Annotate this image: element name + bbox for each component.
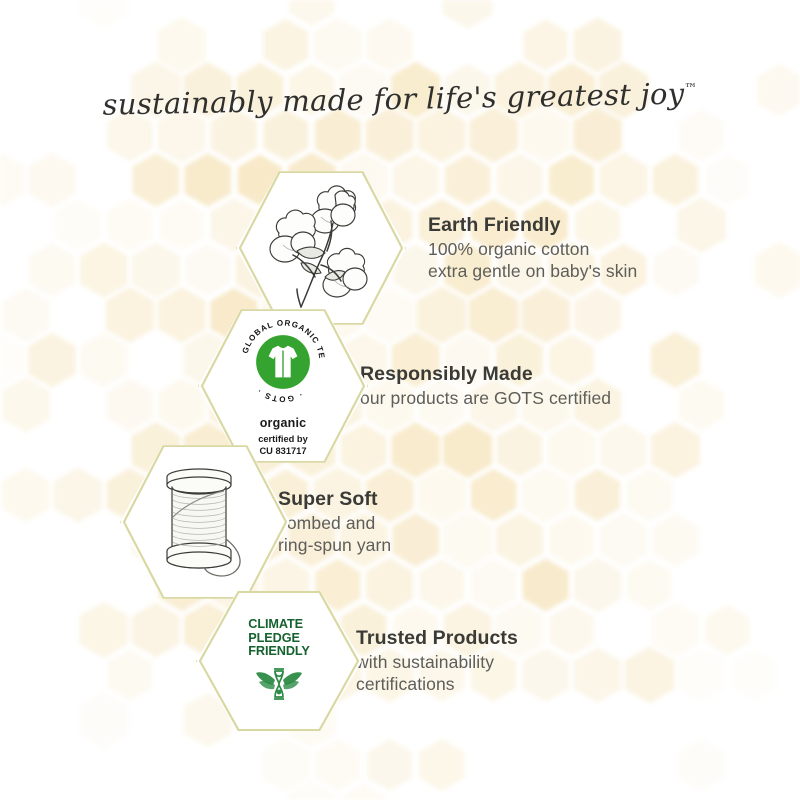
feature-line: our products are GOTS certified: [360, 387, 611, 410]
feature-row-trusted-products: CLIMATE PLEDGE FRIENDLY: [196, 588, 518, 734]
cotton-branch-icon: [257, 181, 385, 315]
hex-card-spool: [120, 442, 290, 602]
feature-text-super-soft: Super Soft combed and ring-spun yarn: [278, 487, 391, 557]
feature-text-trusted-products: Trusted Products with sustainability cer…: [356, 626, 518, 696]
feature-title: Earth Friendly: [428, 213, 637, 238]
feature-line: combed and: [278, 512, 391, 535]
hex-card-climate-pledge: CLIMATE PLEDGE FRIENDLY: [196, 588, 362, 734]
feature-title: Trusted Products: [356, 626, 518, 651]
cpf-line-2: PLEDGE: [248, 632, 309, 645]
feature-line: ring-spun yarn: [278, 534, 391, 557]
feature-title: Super Soft: [278, 487, 391, 512]
headline-text: sustainably made for life's greatest joy: [102, 77, 684, 122]
feature-row-earth-friendly: Earth Friendly 100% organic cotton extra…: [236, 168, 637, 328]
gots-certification-icon: GLOBAL ORGANIC TEXTILE STANDARD · GOTS ·…: [235, 314, 331, 458]
hex-card-cotton: [236, 168, 406, 328]
infographic-canvas: sustainably made for life's greatest joy…: [0, 0, 800, 800]
winged-hourglass-icon: [256, 664, 302, 704]
feature-title: Responsibly Made: [360, 362, 611, 387]
cpf-line-3: FRIENDLY: [248, 645, 309, 658]
feature-line: 100% organic cotton: [428, 238, 637, 261]
climate-pledge-wordmark: CLIMATE PLEDGE FRIENDLY: [248, 618, 309, 658]
feature-line: certifications: [356, 673, 518, 696]
feature-text-responsibly-made: Responsibly Made our products are GOTS c…: [360, 362, 611, 410]
gots-organic-label: organic: [260, 416, 307, 430]
climate-pledge-friendly-icon: CLIMATE PLEDGE FRIENDLY: [248, 618, 309, 703]
feature-line: extra gentle on baby's skin: [428, 260, 637, 283]
feature-line: with sustainability: [356, 651, 518, 674]
cpf-line-1: CLIMATE: [248, 618, 309, 631]
page-headline: sustainably made for life's greatest joy…: [0, 74, 800, 123]
feature-row-super-soft: Super Soft combed and ring-spun yarn: [120, 442, 391, 602]
feature-text-earth-friendly: Earth Friendly 100% organic cotton extra…: [428, 213, 637, 283]
trademark-symbol: ™: [684, 82, 697, 97]
thread-spool-icon: [149, 461, 261, 583]
